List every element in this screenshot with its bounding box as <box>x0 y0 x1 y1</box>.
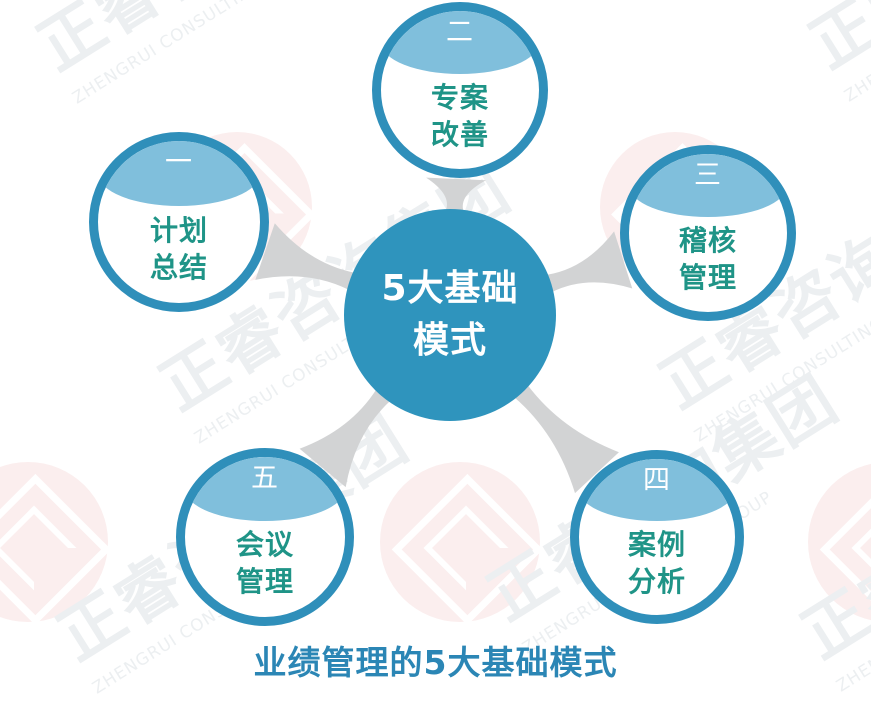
node-body: 会议管理 <box>185 518 345 617</box>
watermark-brand-text: 正睿咨询集团ZHENGRUI CONSULTING GROUP <box>18 0 415 108</box>
diagram-caption: 业绩管理的5大基础模式 <box>0 636 871 684</box>
node-index-label: 三 <box>694 162 722 189</box>
center-hub[interactable]: 5大基础 模式 <box>344 209 556 421</box>
node-label-line-1: 会议 <box>236 527 294 564</box>
node-label-line-2: 管理 <box>236 564 294 601</box>
node-body: 专案改善 <box>381 71 539 169</box>
node-cap: 一 <box>98 141 260 206</box>
diagram-canvas: 正睿咨询集团ZHENGRUI CONSULTING GROUP正睿咨询集团ZHE… <box>0 0 871 705</box>
node-body: 计划总结 <box>98 203 260 303</box>
watermark-logo-icon <box>380 462 540 622</box>
node-label-line-2: 管理 <box>679 260 737 297</box>
center-hub-line-1: 5大基础 <box>381 263 518 315</box>
node-special-project-improvement[interactable]: 二专案改善 <box>372 2 548 178</box>
node-index-label: 一 <box>165 149 193 176</box>
node-body: 案例分析 <box>579 518 735 615</box>
node-label-line-1: 专案 <box>431 80 489 117</box>
node-meeting-management[interactable]: 五会议管理 <box>176 448 354 626</box>
watermark-brand-text: 正睿咨询集团ZHENGRUI CONSULTING GROUP <box>790 0 871 106</box>
node-index-label: 四 <box>643 467 671 494</box>
watermark-logo-icon <box>808 462 871 622</box>
node-cap: 三 <box>629 154 787 217</box>
node-index-label: 二 <box>446 19 474 46</box>
node-plan-summary[interactable]: 一计划总结 <box>89 132 269 312</box>
node-case-analysis[interactable]: 四案例分析 <box>570 450 744 624</box>
node-cap: 二 <box>381 11 539 74</box>
node-audit-management[interactable]: 三稽核管理 <box>620 145 796 321</box>
node-label-line-2: 总结 <box>150 250 208 287</box>
node-label-line-1: 稽核 <box>679 223 737 260</box>
node-cap: 四 <box>579 459 735 521</box>
node-label-line-2: 分析 <box>628 564 686 601</box>
node-cap: 五 <box>185 457 345 521</box>
node-label-line-1: 计划 <box>150 213 208 250</box>
connector-hub-to-special-project <box>426 178 486 212</box>
node-body: 稽核管理 <box>629 214 787 312</box>
node-index-label: 五 <box>251 465 279 492</box>
center-hub-line-2: 模式 <box>413 315 487 367</box>
watermark-logo-icon <box>0 462 108 622</box>
connector-hub-to-plan-summary <box>255 223 354 290</box>
node-label-line-1: 案例 <box>628 527 686 564</box>
node-label-line-2: 改善 <box>431 117 489 154</box>
